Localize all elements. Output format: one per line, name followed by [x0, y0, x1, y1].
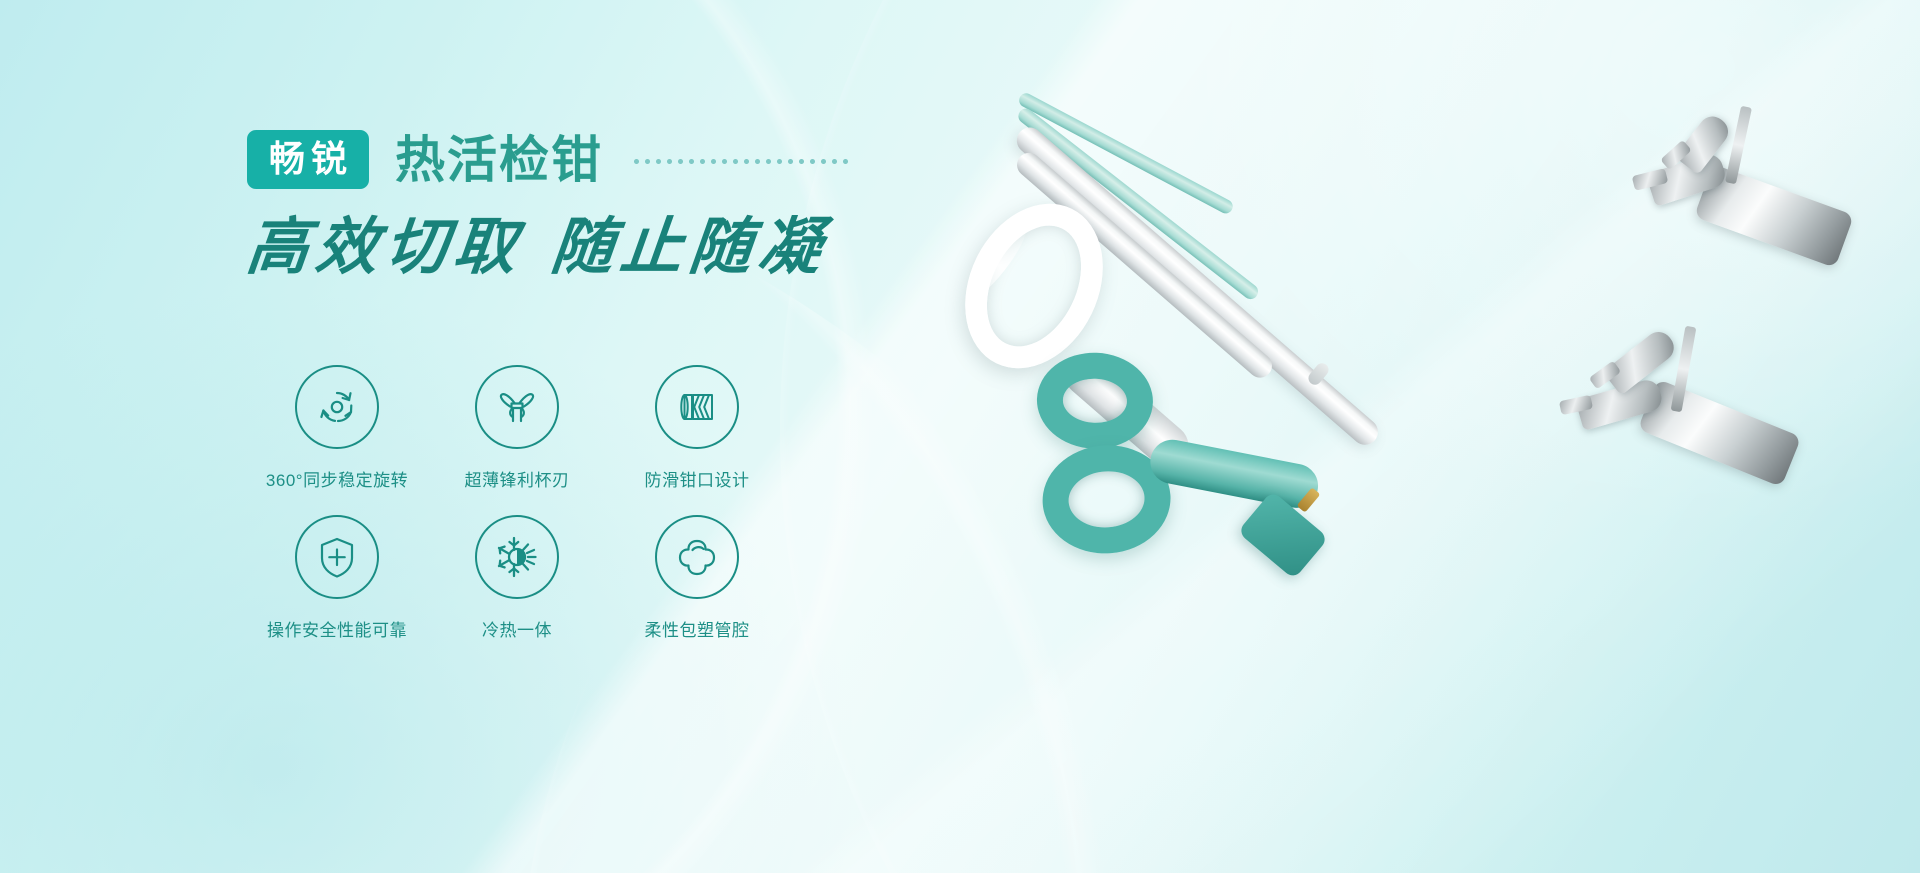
shield-plus-icon: [295, 515, 379, 599]
sharp-cup-jaws-icon: [475, 365, 559, 449]
flexible-lumen-icon: [655, 515, 739, 599]
page-title: 热活检钳: [395, 135, 603, 185]
teal-handle-stem: [1147, 436, 1322, 512]
feature-item: 冷热一体: [427, 515, 607, 665]
feature-label: 操作安全性能可靠: [267, 616, 407, 641]
anti-slip-jaw-icon: [655, 365, 739, 449]
feature-label: 冷热一体: [482, 616, 552, 641]
metal-jaw-assembly-lower: [1550, 310, 1880, 570]
rotation-360-icon: [295, 365, 379, 449]
dotted-divider: [631, 159, 853, 164]
brand-badge: 畅锐: [247, 130, 369, 189]
feature-grid: 360°同步稳定旋转 超薄锋利杯刃: [247, 365, 787, 665]
hot-cold-icon: [475, 515, 559, 599]
slogan-text: 高效切取 随止随凝: [243, 213, 831, 281]
feature-item: 超薄锋利杯刃: [427, 365, 607, 515]
hot-biopsy-forceps-photo: [1020, 90, 1920, 873]
feature-label: 柔性包塑管腔: [645, 616, 750, 641]
teal-ring-upper: [1035, 351, 1154, 451]
feature-label: 超薄锋利杯刃: [465, 466, 570, 491]
feature-item: 360°同步稳定旋转: [247, 365, 427, 515]
banner-content: 畅锐 热活检钳 高效切取 随止随凝: [0, 0, 1920, 873]
feature-item: 柔性包塑管腔: [607, 515, 787, 665]
feature-label: 360°同步稳定旋转: [266, 466, 408, 491]
feature-item: 防滑钳口设计: [607, 365, 787, 515]
promo-banner: 畅锐 热活检钳 高效切取 随止随凝: [0, 0, 1920, 873]
jaw-barrel-lower: [1638, 379, 1802, 487]
feature-item: 操作安全性能可靠: [247, 515, 427, 665]
feature-label: 防滑钳口设计: [645, 466, 750, 491]
title-row: 畅锐 热活检钳: [247, 130, 853, 189]
